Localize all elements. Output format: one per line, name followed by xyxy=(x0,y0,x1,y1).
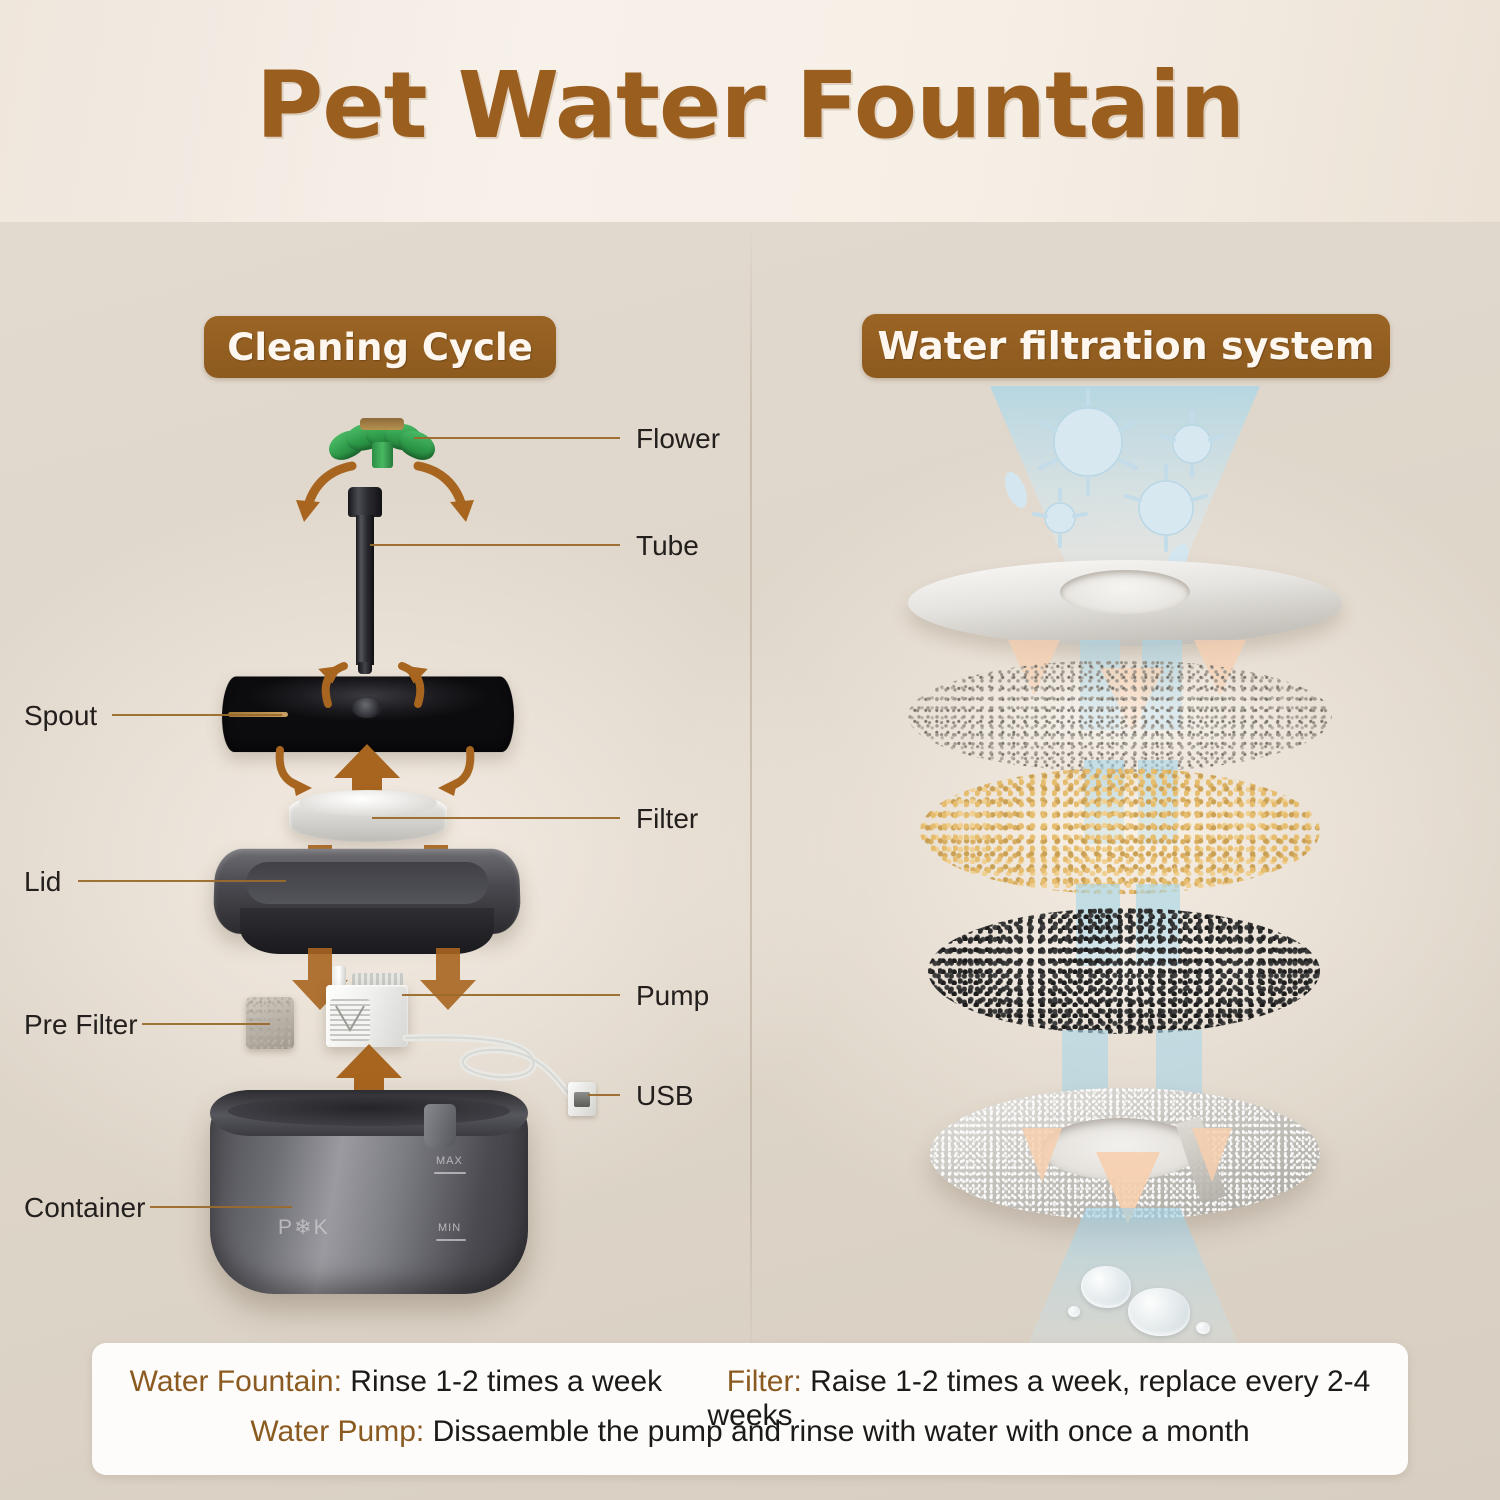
leader-pump xyxy=(402,994,620,996)
tube-body xyxy=(356,515,374,665)
tube-head xyxy=(348,487,382,517)
flower-rotate-arrows xyxy=(290,462,480,528)
callout-pump: Pump xyxy=(636,980,709,1012)
leader-usb xyxy=(588,1094,620,1096)
callout-spout: Spout xyxy=(24,700,97,732)
badge-cleaning-cycle: Cleaning Cycle xyxy=(204,316,556,378)
min-marking: MIN xyxy=(438,1222,461,1234)
max-marking-line xyxy=(434,1172,466,1174)
cotton-disc-hole xyxy=(1060,570,1190,614)
care-text-water-fountain: Rinse 1-2 times a week xyxy=(342,1365,662,1398)
callout-usb: USB xyxy=(636,1080,694,1112)
filter-puck-top xyxy=(299,790,437,816)
white-grain-filter-layer xyxy=(908,660,1332,772)
lid-inner xyxy=(246,862,488,904)
leader-lid xyxy=(78,880,286,882)
min-marking-line xyxy=(436,1239,466,1241)
leader-container xyxy=(150,1206,292,1208)
leader-flower xyxy=(414,437,620,439)
callout-filter: Filter xyxy=(636,803,698,835)
pump-v-detail xyxy=(334,1004,366,1034)
max-marking: MAX xyxy=(436,1155,463,1167)
care-label-filter: Filter: xyxy=(727,1365,802,1398)
infographic-page: Pet Water Fountain Cleaning Cycle Water … xyxy=(0,0,1500,1500)
brand-logo: P❄K xyxy=(278,1215,330,1240)
callout-pre-filter: Pre Filter xyxy=(24,1009,138,1041)
page-title: Pet Water Fountain xyxy=(0,52,1500,159)
water-droplet-3 xyxy=(1068,1306,1080,1317)
callout-tube: Tube xyxy=(636,530,699,562)
purified-water-outflow xyxy=(1008,1208,1258,1358)
care-label-water-pump: Water Pump: xyxy=(250,1415,424,1448)
leader-pre-filter xyxy=(142,1023,270,1025)
leader-filter xyxy=(372,817,620,819)
section-divider xyxy=(750,222,752,1382)
callout-lid: Lid xyxy=(24,866,61,898)
water-droplet-2 xyxy=(1128,1288,1190,1336)
care-line-2: Water Pump: Dissaemble the pump and rins… xyxy=(92,1415,1408,1449)
care-text-water-pump: Dissaemble the pump and rinse with water… xyxy=(424,1415,1249,1448)
activated-carbon-filter-layer xyxy=(928,908,1320,1034)
leader-tube xyxy=(370,544,620,546)
leader-spout xyxy=(112,714,282,716)
golden-resin-filter-layer xyxy=(920,768,1320,894)
container-notch xyxy=(424,1104,456,1148)
callout-flower: Flower xyxy=(636,423,720,455)
container-mouth xyxy=(228,1096,510,1126)
care-instructions-panel: Water Fountain: Rinse 1-2 times a week F… xyxy=(92,1343,1408,1475)
spout-rotate-arrows-top xyxy=(292,660,454,708)
care-label-water-fountain: Water Fountain: xyxy=(130,1365,342,1398)
callout-container: Container xyxy=(24,1192,145,1224)
badge-water-filtration-system: Water filtration system xyxy=(862,314,1390,378)
water-droplet-4 xyxy=(1196,1322,1210,1334)
water-droplet-1 xyxy=(1081,1266,1131,1308)
